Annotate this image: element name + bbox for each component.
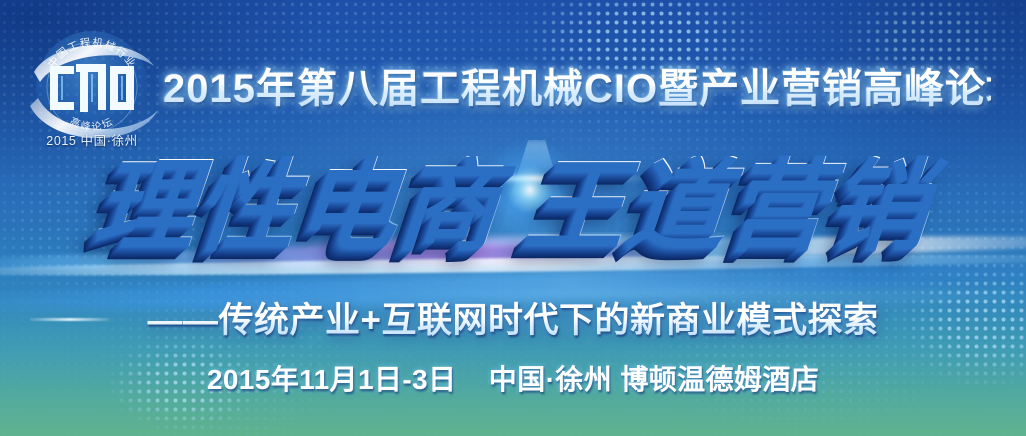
event-date: 2015年11月1日-3日 [207,364,457,395]
streak-pink-short [246,232,780,251]
event-venue: 博顿温德姆酒店 [620,364,819,395]
page-title: 2015年第八届工程机械CIO暨产业营销高峰论坛 [163,56,991,114]
date-venue-line: 2015年11月1日-3日 中国·徐州 博顿温德姆酒店 [0,358,1026,398]
headline-word-left: 理性电商 [92,156,505,256]
headline-slogan: 理性电商 王道营销 [0,146,1026,266]
light-beam [395,176,665,181]
light-ray [450,140,620,270]
headline-word-right: 王道营销 [522,156,935,256]
streak-white [0,251,1026,280]
subtitle: ——传统产业+互联网时代下的新商业模式探索 [0,292,1026,343]
streak-magenta [0,232,1026,276]
conference-banner: 中国工程机械行业 高峰论坛 2015 中国·徐州 [0,0,1026,436]
light-flare-icon [470,130,590,250]
logo-caption: 2015 中国·徐州 [18,130,166,149]
event-city: 中国·徐州 [489,364,612,395]
